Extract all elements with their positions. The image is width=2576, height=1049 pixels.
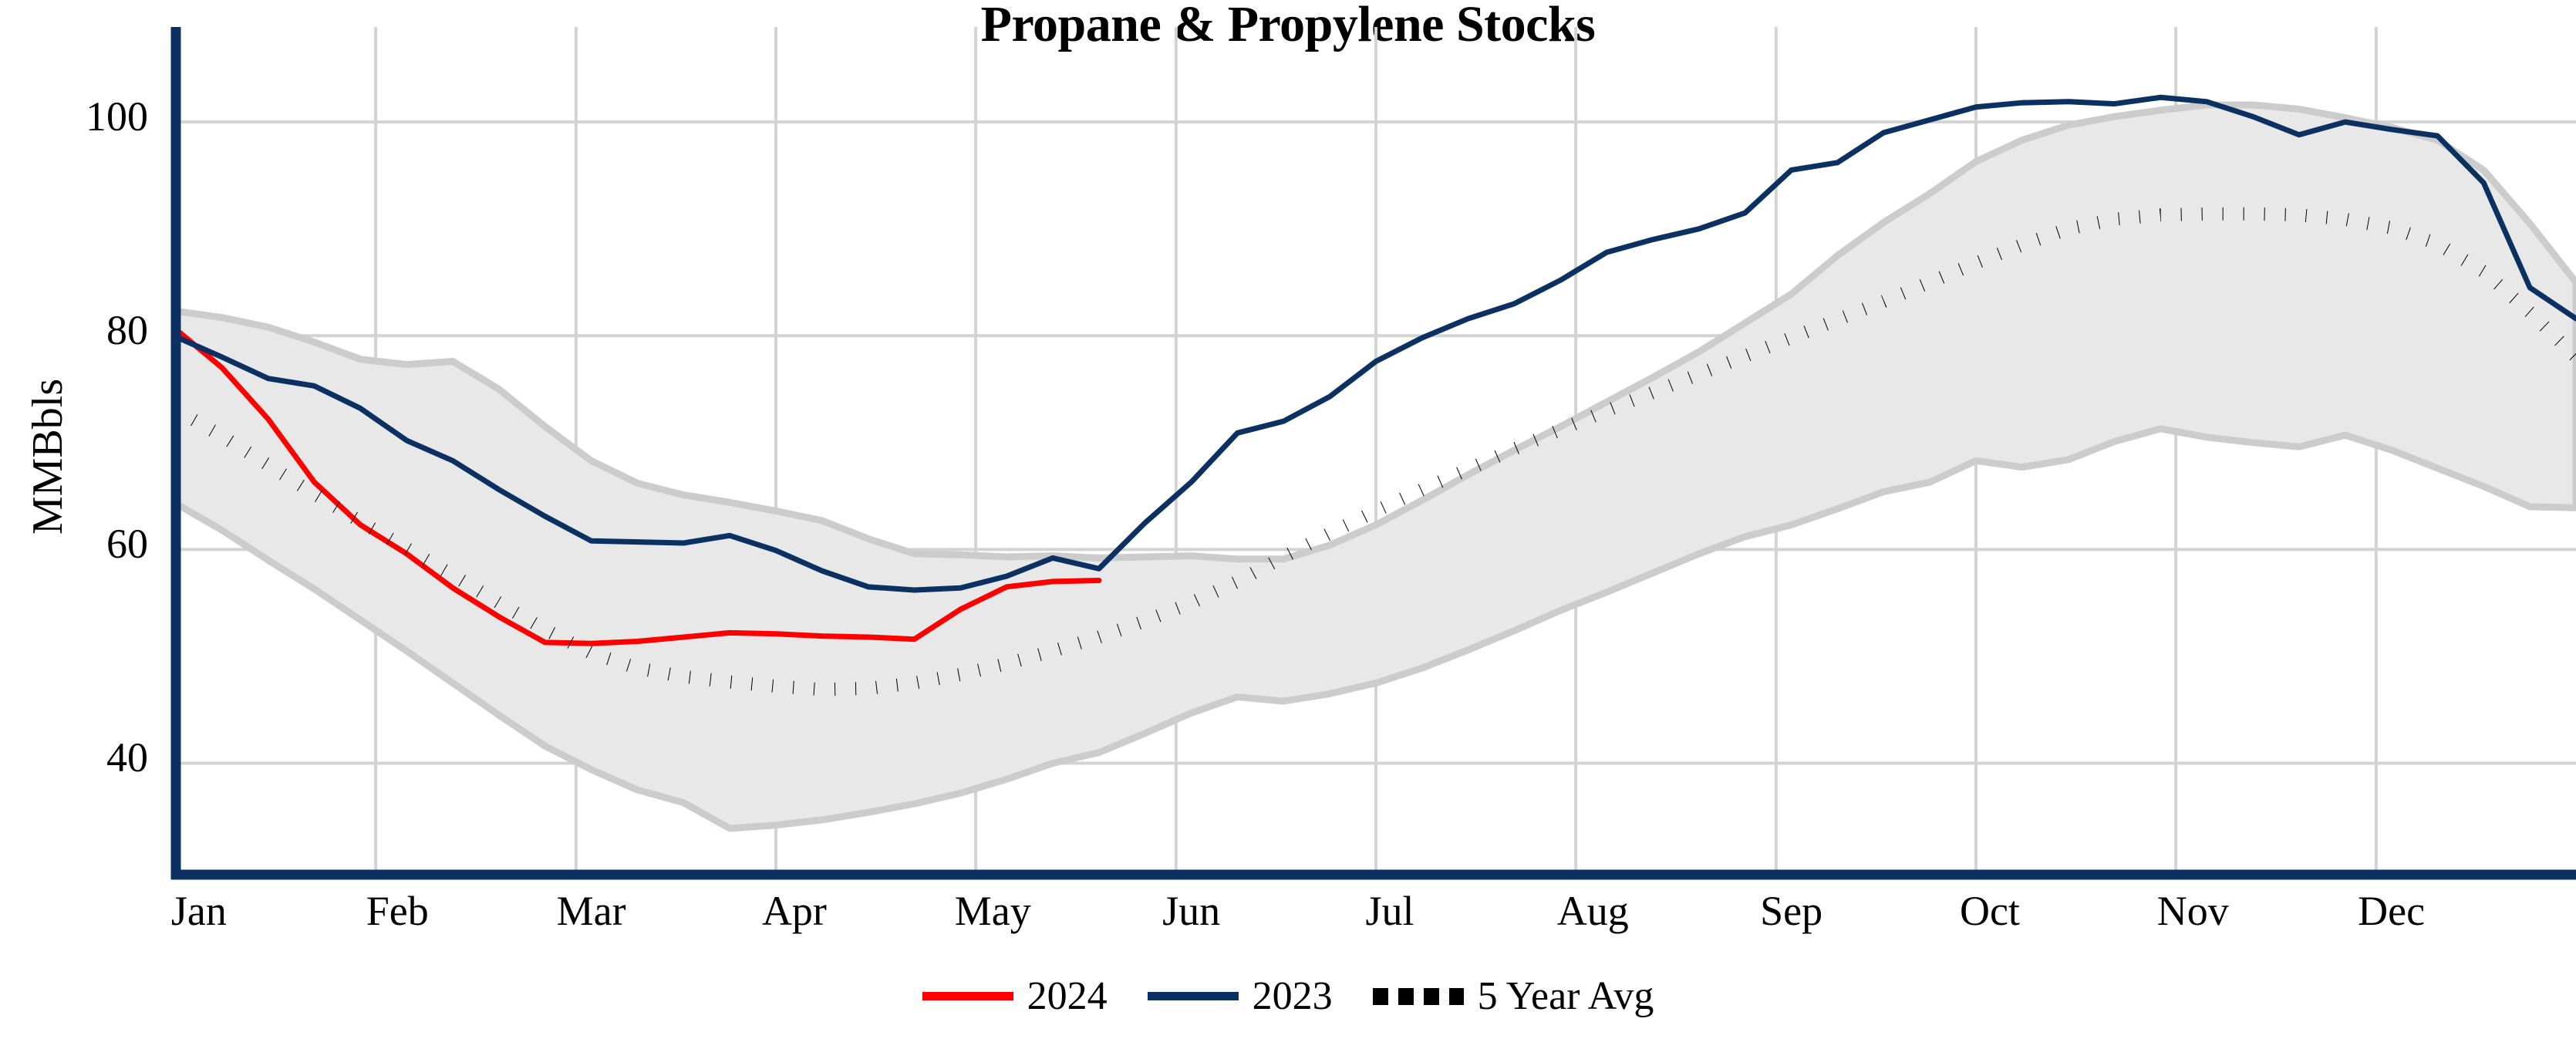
x-tick-label: Jun xyxy=(1091,887,1292,935)
x-tick-label: Jul xyxy=(1290,887,1490,935)
legend-swatch-5-year-avg xyxy=(1373,988,1464,1005)
x-tick-label: Dec xyxy=(2291,887,2492,935)
x-tick-label: Feb xyxy=(297,887,497,935)
legend-item-2023[interactable]: 2023 xyxy=(1148,973,1333,1019)
x-tick-label: Oct xyxy=(1890,887,2090,935)
x-tick-label: Mar xyxy=(491,887,692,935)
x-tick-label: Nov xyxy=(2092,887,2293,935)
x-tick-label: Aug xyxy=(1492,887,1693,935)
x-tick-label: Jan xyxy=(99,887,299,935)
chart-container: Propane & Propylene Stocks MMBbls 100806… xyxy=(0,0,2576,1049)
x-tick-label: Apr xyxy=(694,887,895,935)
legend-label: 2024 xyxy=(1027,973,1108,1019)
legend-label: 2023 xyxy=(1253,973,1333,1019)
chart-legend: 202420235 Year Avg xyxy=(0,973,2576,1019)
legend-swatch-2024 xyxy=(922,992,1013,1000)
y-tick-label: 80 xyxy=(0,306,148,354)
legend-label: 5 Year Avg xyxy=(1478,973,1654,1019)
y-tick-label: 100 xyxy=(0,93,148,140)
y-tick-label: 40 xyxy=(0,734,148,781)
legend-item-5-year-avg[interactable]: 5 Year Avg xyxy=(1373,973,1654,1019)
y-tick-label: 60 xyxy=(0,520,148,568)
x-tick-label: May xyxy=(892,887,1093,935)
x-tick-label: Sep xyxy=(1691,887,1892,935)
legend-swatch-2023 xyxy=(1148,992,1239,1000)
legend-item-2024[interactable]: 2024 xyxy=(922,973,1108,1019)
